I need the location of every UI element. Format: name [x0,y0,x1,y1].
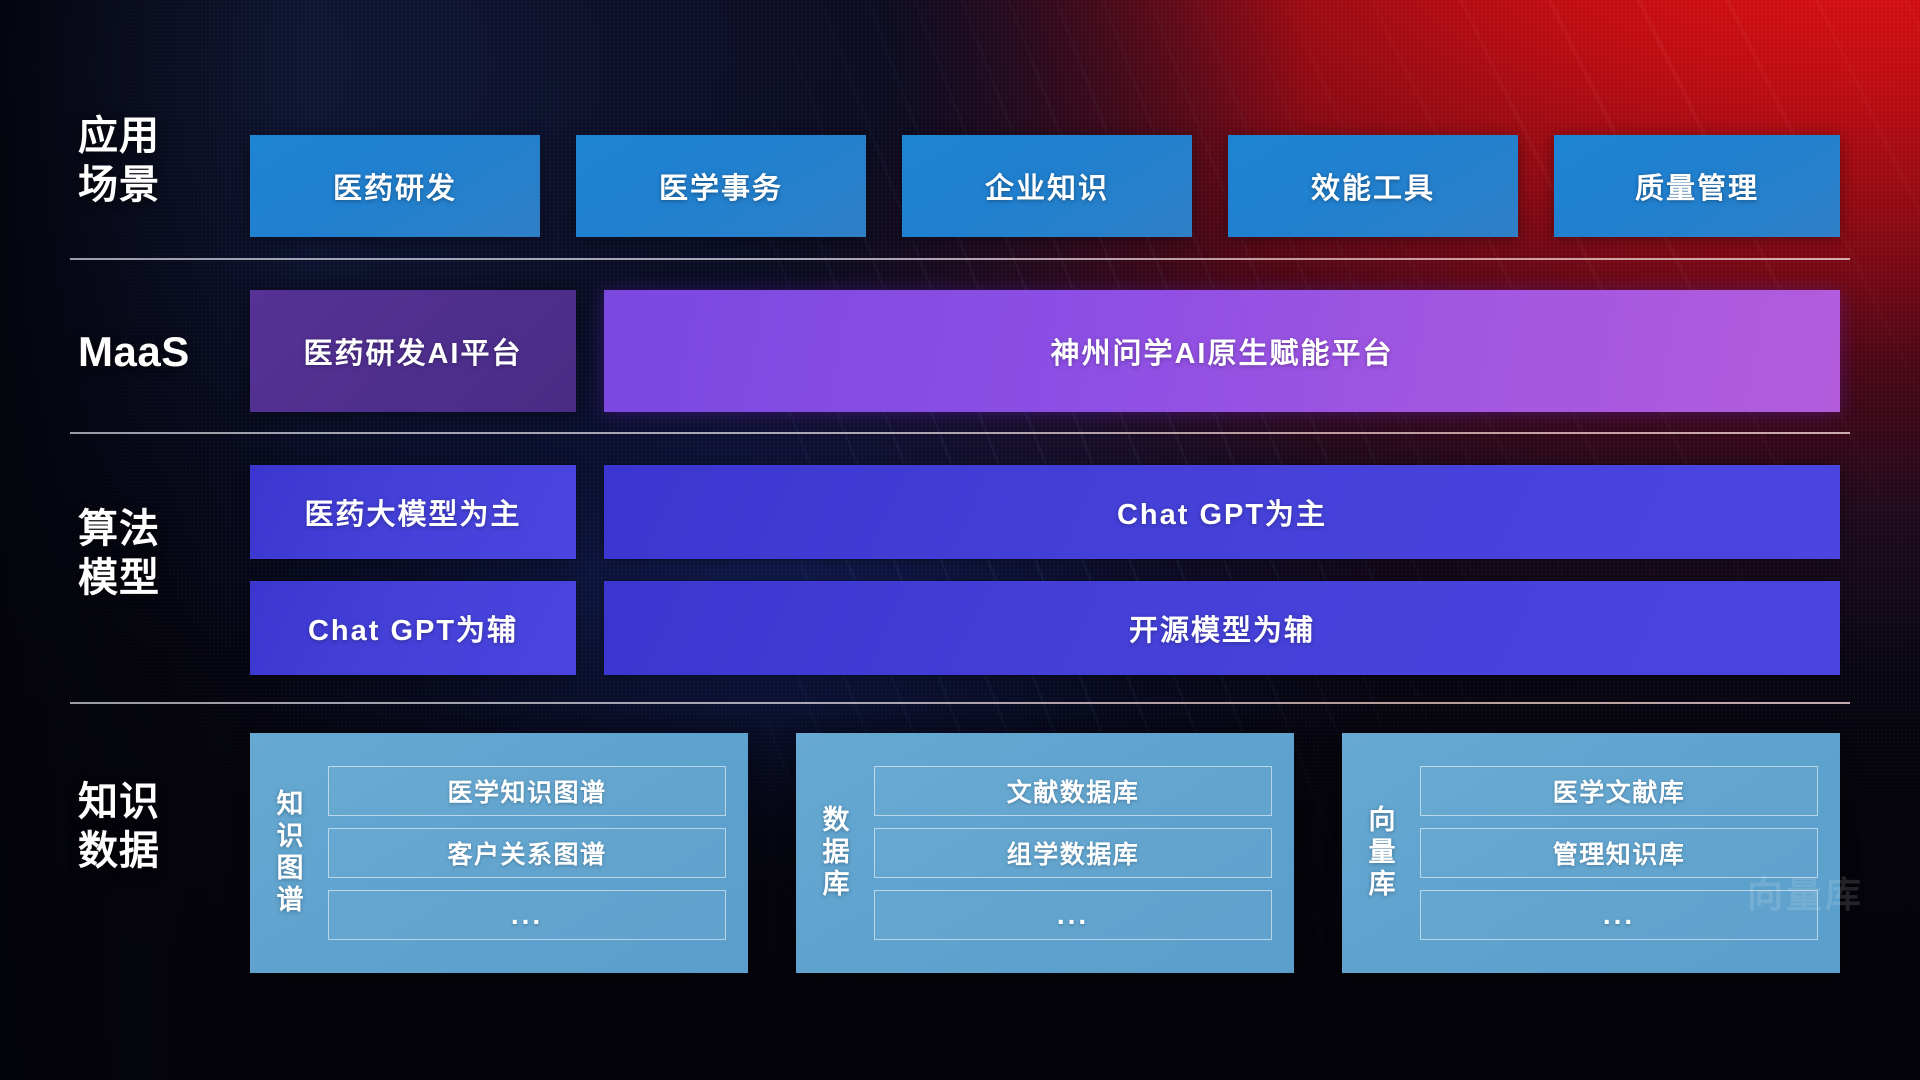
knowledge-panel-graph[interactable]: 知识图谱 医学知识图谱 客户关系图谱 ... [250,733,748,973]
knowledge-item-more-graph[interactable]: ... [328,890,726,940]
knowledge-item-more-vector[interactable]: ... [1420,890,1818,940]
row-label-maas: MaaS [78,327,238,376]
knowledge-panel-database[interactable]: 数据库 文献数据库 组学数据库 ... [796,733,1294,973]
algo-box-opensource-secondary[interactable]: 开源模型为辅 [604,581,1840,675]
knowledge-item-medical-literature[interactable]: 医学文献库 [1420,766,1818,816]
divider-1 [70,258,1850,260]
knowledge-item-more-db[interactable]: ... [874,890,1272,940]
app-box-quality-management[interactable]: 质量管理 [1554,135,1840,237]
knowledge-item-omics-db[interactable]: 组学数据库 [874,828,1272,878]
knowledge-panel-graph-items: 医学知识图谱 客户关系图谱 ... [324,733,748,973]
row-label-algorithm-models: 算法 模型 [78,505,238,603]
app-box-efficiency-tools[interactable]: 效能工具 [1228,135,1518,237]
architecture-diagram: 应用 场景 医药研发 医学事务 企业知识 效能工具 质量管理 MaaS 医药研发… [0,0,1920,1080]
app-box-medical-affairs-label: 医学事务 [659,165,783,207]
knowledge-item-medical-graph[interactable]: 医学知识图谱 [328,766,726,816]
maas-box-pharma-ai-platform[interactable]: 医药研发AI平台 [250,290,576,412]
algo-box-pharma-llm-primary-label: 医药大模型为主 [304,491,521,533]
knowledge-item-crm-graph[interactable]: 客户关系图谱 [328,828,726,878]
algo-box-chatgpt-secondary-label: Chat GPT为辅 [308,607,518,649]
row-label-knowledge-data: 知识 数据 [78,778,238,876]
app-box-medical-affairs[interactable]: 医学事务 [576,135,866,237]
knowledge-item-management-kb[interactable]: 管理知识库 [1420,828,1818,878]
algo-box-pharma-llm-primary[interactable]: 医药大模型为主 [250,465,576,559]
maas-box-shenzhou-wenxue-platform[interactable]: 神州问学AI原生赋能平台 [604,290,1840,412]
app-box-quality-management-label: 质量管理 [1635,165,1759,207]
app-box-enterprise-knowledge-label: 企业知识 [985,165,1109,207]
knowledge-panel-vector-items: 医学文献库 管理知识库 ... [1416,733,1840,973]
knowledge-panel-graph-label: 知识图谱 [250,733,324,973]
algo-box-opensource-secondary-label: 开源模型为辅 [1129,607,1315,649]
knowledge-panel-database-items: 文献数据库 组学数据库 ... [870,733,1294,973]
knowledge-item-literature-db[interactable]: 文献数据库 [874,766,1272,816]
row-label-application-scenarios: 应用 场景 [78,112,238,210]
algo-box-chatgpt-primary[interactable]: Chat GPT为主 [604,465,1840,559]
app-box-efficiency-tools-label: 效能工具 [1311,165,1435,207]
divider-3 [70,702,1850,704]
knowledge-panel-database-label: 数据库 [796,733,870,973]
algo-box-chatgpt-primary-label: Chat GPT为主 [1117,491,1327,533]
knowledge-panel-vector[interactable]: 向量库 医学文献库 管理知识库 ... [1342,733,1840,973]
algo-box-chatgpt-secondary[interactable]: Chat GPT为辅 [250,581,576,675]
knowledge-panel-vector-label: 向量库 [1342,733,1416,973]
app-box-enterprise-knowledge[interactable]: 企业知识 [902,135,1192,237]
app-box-medicine-rd[interactable]: 医药研发 [250,135,540,237]
slide-canvas: 应用 场景 医药研发 医学事务 企业知识 效能工具 质量管理 MaaS 医药研发… [0,0,1920,1080]
app-box-medicine-rd-label: 医药研发 [333,165,457,207]
maas-box-shenzhou-wenxue-platform-label: 神州问学AI原生赋能平台 [1050,330,1393,372]
divider-2 [70,432,1850,434]
maas-box-pharma-ai-platform-label: 医药研发AI平台 [303,330,522,372]
